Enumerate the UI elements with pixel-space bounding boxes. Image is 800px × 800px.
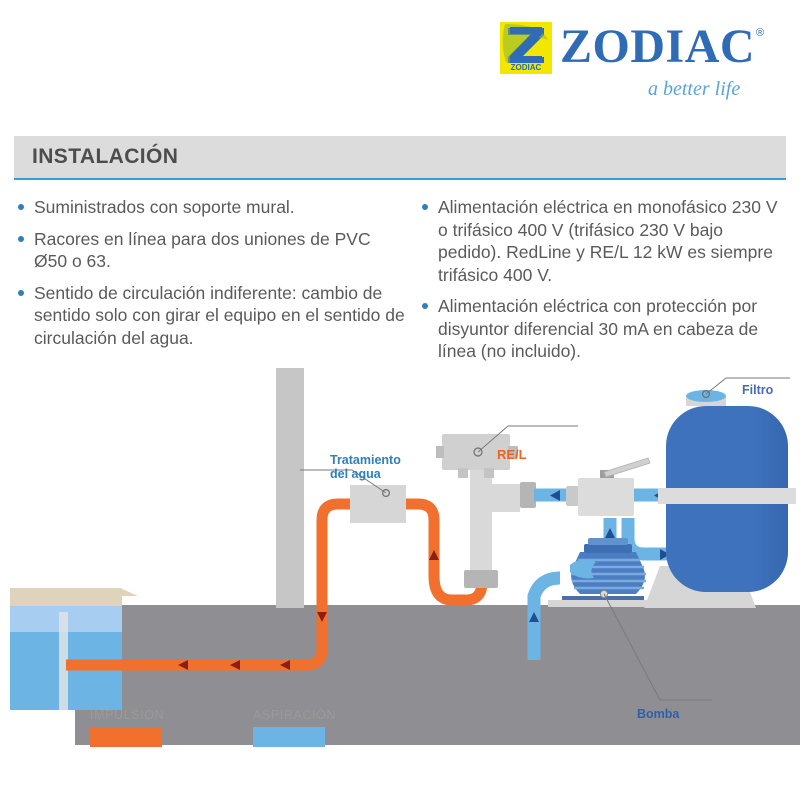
- list-item-text: Alimentación eléctrica en monofásico 230…: [438, 197, 778, 285]
- zodiac-logo: ZODIAC ZODIAC ® a better life: [500, 22, 780, 102]
- bullet-dot-icon: [422, 303, 428, 309]
- list-item-text: Suministrados con soporte mural.: [34, 197, 295, 217]
- tagline-text: a better life: [648, 78, 740, 100]
- page-title: INSTALACIÓN: [14, 145, 178, 169]
- multiport-valve: [578, 458, 650, 516]
- legend-swatch-impulsion: [90, 727, 162, 747]
- list-item: Suministrados con soporte mural.: [14, 196, 406, 219]
- list-item: Racores en línea para dos uniones de PVC…: [14, 228, 406, 273]
- wall-post: [276, 368, 304, 608]
- section-header: INSTALACIÓN: [14, 136, 786, 178]
- zodiac-logo-mark-icon: ZODIAC: [500, 22, 552, 74]
- bullet-column-right: Alimentación eléctrica en monofásico 230…: [418, 196, 790, 372]
- diagram-legend: IMPULSIÓN ASPIRACIÓN: [90, 708, 390, 758]
- legend-label: IMPULSIÓN: [90, 708, 164, 722]
- zodiac-wordmark: ZODIAC ®: [560, 20, 780, 74]
- registered-mark: ®: [756, 27, 764, 39]
- bullet-column-left: Suministrados con soporte mural. Racores…: [14, 196, 406, 358]
- bullet-list-left: Suministrados con soporte mural. Racores…: [14, 196, 406, 349]
- filter-band: [658, 488, 796, 504]
- list-item-text: Sentido de circulación indiferente: camb…: [34, 283, 405, 348]
- bullet-dot-icon: [422, 204, 428, 210]
- legend-swatch-aspiracion: [253, 727, 325, 747]
- bullet-dot-icon: [18, 290, 24, 296]
- bullet-list-right: Alimentación eléctrica en monofásico 230…: [418, 196, 790, 363]
- list-item: Alimentación eléctrica en monofásico 230…: [418, 196, 790, 286]
- label-bomba: Bomba: [637, 707, 679, 721]
- legend-item-impulsion: IMPULSIÓN: [90, 708, 164, 747]
- valve-handle: [604, 458, 650, 477]
- water-treatment-box: [350, 485, 406, 523]
- legend-item-aspiracion: ASPIRACIÓN: [253, 708, 336, 747]
- list-item: Alimentación eléctrica con protección po…: [418, 295, 790, 363]
- bullet-dot-icon: [18, 236, 24, 242]
- pool: [10, 588, 138, 710]
- page-root: ZODIAC ZODIAC ® a better life ZODIAC a b…: [0, 0, 800, 800]
- list-item: Sentido de circulación indiferente: camb…: [14, 282, 406, 350]
- section-underline: [14, 178, 786, 180]
- wordmark-text: ZODIAC: [560, 20, 755, 73]
- label-tratamiento-line1: Tratamiento: [330, 453, 401, 467]
- label-filtro: Filtro: [742, 383, 773, 397]
- label-tratamiento-del-agua: Tratamiento del agua: [330, 453, 401, 481]
- list-item-text: Alimentación eléctrica con protección po…: [438, 296, 758, 361]
- legend-label: ASPIRACIÓN: [253, 708, 336, 722]
- label-tratamiento-line2: del agua: [330, 467, 401, 481]
- filter-tank: [644, 390, 796, 608]
- list-item-text: Racores en línea para dos uniones de PVC…: [34, 229, 371, 272]
- zodiac-tagline: a better life: [648, 74, 788, 107]
- logo-mark-text: ZODIAC: [511, 63, 542, 72]
- label-rel: RE/L: [497, 447, 527, 462]
- bullet-dot-icon: [18, 204, 24, 210]
